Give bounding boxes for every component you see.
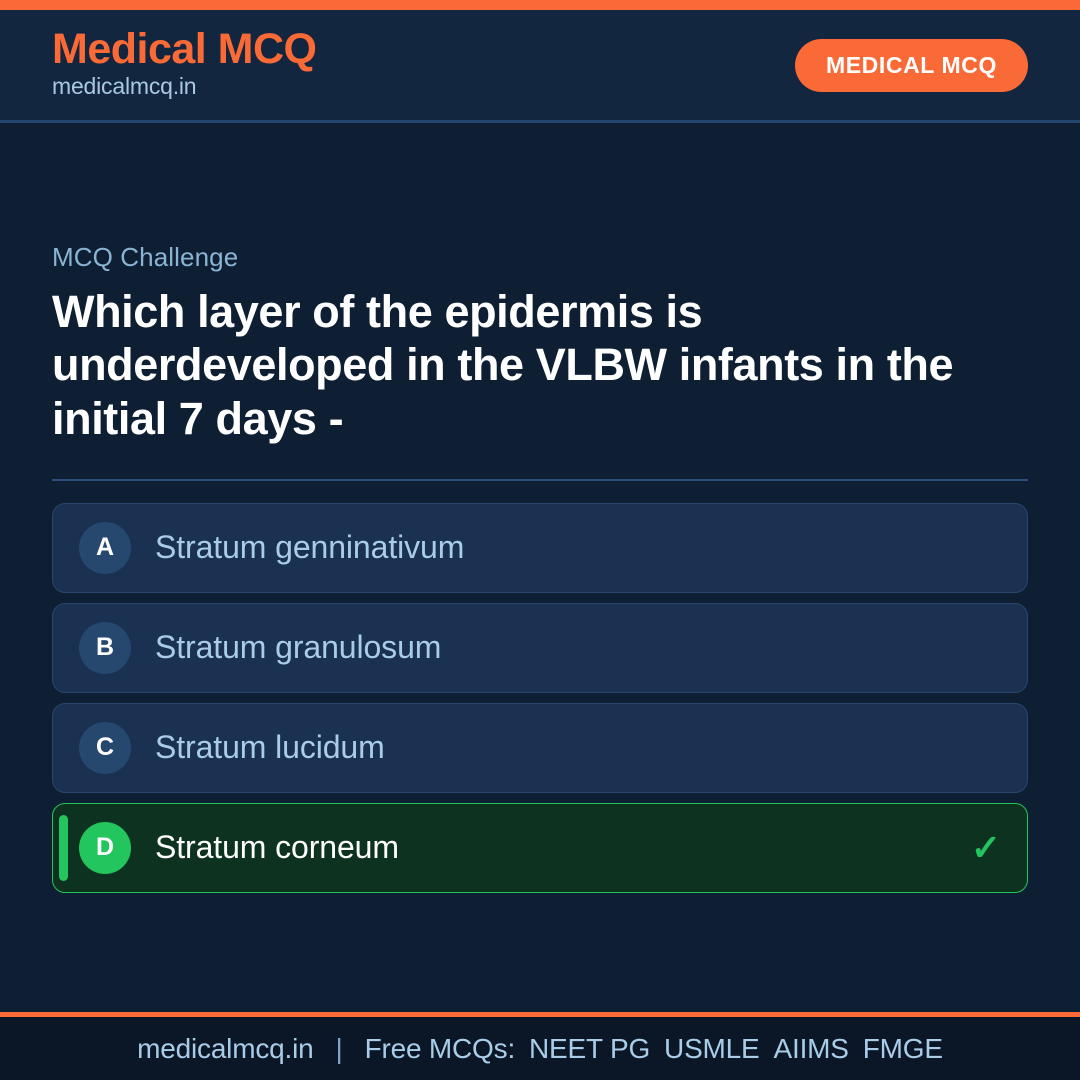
footer-exam-neet-pg[interactable]: NEET PG [529,1033,650,1065]
footer-separator: | [335,1033,342,1065]
brand-block: Medical MCQ medicalmcq.in [52,27,317,99]
footer-exam-usmle[interactable]: USMLE [664,1033,759,1065]
option-label-d: Stratum corneum [155,829,955,866]
option-letter-badge-a: A [79,522,131,574]
question-text: Which layer of the epidermis is underdev… [52,285,982,444]
option-label-c: Stratum lucidum [155,729,955,766]
option-letter-badge-c: C [79,722,131,774]
option-label-b: Stratum granulosum [155,629,955,666]
option-letter-badge-d: D [79,822,131,874]
brand-title: Medical MCQ [52,27,317,72]
correct-accent-bar [59,815,68,881]
top-accent-bar [0,0,1080,10]
option-list: A Stratum genninativum ✓ B Stratum granu… [52,503,1028,893]
footer-label: Free MCQs: [365,1033,515,1065]
option-row-d[interactable]: D Stratum corneum ✓ [52,803,1028,893]
footer-site-link[interactable]: medicalmcq.in [137,1033,313,1065]
footer: medicalmcq.in | Free MCQs: NEET PG USMLE… [0,1012,1080,1080]
footer-content: medicalmcq.in | Free MCQs: NEET PG USMLE… [137,1033,943,1065]
brand-domain: medicalmcq.in [52,74,317,99]
footer-exam-fmge[interactable]: FMGE [863,1033,943,1065]
option-row-c[interactable]: C Stratum lucidum ✓ [52,703,1028,793]
eyebrow-label: MCQ Challenge [52,242,1028,273]
option-row-a[interactable]: A Stratum genninativum ✓ [52,503,1028,593]
question-panel: MCQ Challenge Which layer of the epiderm… [0,123,1080,1012]
option-label-a: Stratum genninativum [155,529,955,566]
option-letter-badge-b: B [79,622,131,674]
question-divider [52,479,1028,481]
header: Medical MCQ medicalmcq.in MEDICAL MCQ [0,10,1080,123]
check-icon-d: ✓ [971,830,1001,866]
header-badge[interactable]: MEDICAL MCQ [795,39,1028,92]
footer-exam-aiims[interactable]: AIIMS [774,1033,849,1065]
mcq-card: Medical MCQ medicalmcq.in MEDICAL MCQ MC… [0,0,1080,1080]
option-row-b[interactable]: B Stratum granulosum ✓ [52,603,1028,693]
